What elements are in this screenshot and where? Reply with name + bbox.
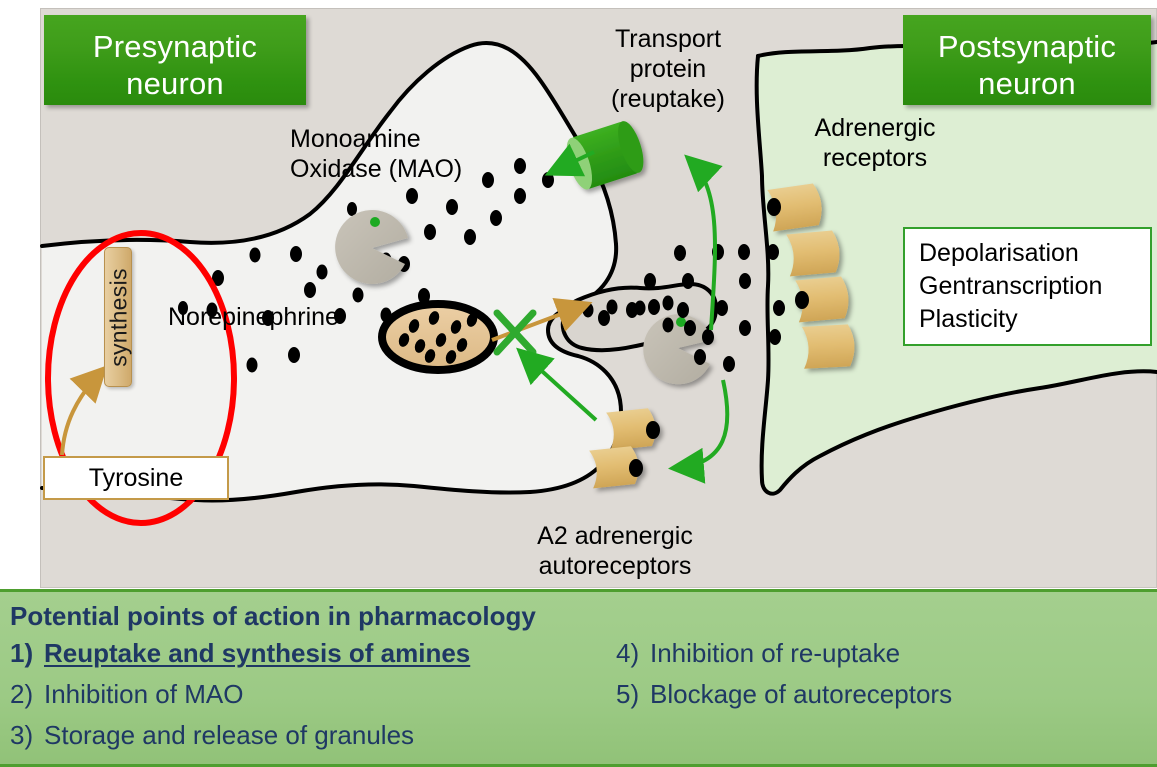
pharmacology-item-3[interactable]: 3)Storage and release of granules [10,715,414,756]
adrenergic-receptor-icon-2 [786,230,841,276]
pharmacology-item-4[interactable]: 4)Inhibition of re-uptake [616,633,900,674]
a2-autoreceptor-icon-2 [589,446,643,489]
pharmacology-item-5-number: 5) [616,674,650,715]
a2-autoreceptor-pointer-arrow [676,380,727,468]
pharmacology-item-3-number: 3) [10,715,44,756]
pharmacology-item-1-number: 1) [10,633,44,674]
adrenergic-receptor-icon-4 [802,324,856,369]
label-adrenergic-receptors: Adrenergic receptors [790,113,960,173]
pharmacology-item-1[interactable]: 1)Reuptake and synthesis of amines [10,633,470,674]
label-norepinephrine: Norepinephrine [168,302,388,332]
adrenergic-receptor-icon-3 [795,276,850,322]
pharmacology-item-5-text: Blockage of autoreceptors [650,679,952,709]
pharmacology-item-4-number: 4) [616,633,650,674]
pharmacology-item-4-text: Inhibition of re-uptake [650,638,900,668]
label-monoamine-oxidase: Monoamine Oxidase (MAO) [290,124,520,184]
adrenergic-receptor-icon-1 [767,183,824,232]
label-a2-adrenergic-autoreceptors: A2 adrenergic autoreceptors [500,521,730,581]
effect-depolarisation: Depolarisation [919,237,1150,270]
pharmacology-panel-title: Potential points of action in pharmacolo… [10,599,1157,633]
tyrosine-callout: Tyrosine [43,456,229,500]
pharmacology-item-2-text: Inhibition of MAO [44,679,243,709]
pharmacology-row-3: 3)Storage and release of granules [10,715,1157,756]
effect-gentranscription: Gentranscription [919,270,1150,303]
a2-autoreceptor-icon-1 [606,408,660,451]
slide-root: Presynaptic neuron Postsynaptic neuron M… [0,0,1157,767]
label-transport-protein: Transport protein (reuptake) [578,24,758,114]
presynaptic-neuron-title: Presynaptic neuron [44,15,306,105]
pharmacology-item-5[interactable]: 5)Blockage of autoreceptors [616,674,952,715]
pharmacology-row-1: 1)Reuptake and synthesis of amines 4)Inh… [10,633,1157,674]
synthesis-pill-label: synthesis [106,248,133,388]
postsynaptic-effects-box: Depolarisation Gentranscription Plastici… [903,227,1152,346]
postsynaptic-neuron-title: Postsynaptic neuron [903,15,1151,105]
pharmacology-item-1-text: Reuptake and synthesis of amines [44,638,470,668]
granule-vesicle-icon [382,304,494,370]
effect-plasticity: Plasticity [919,303,1150,336]
mao-enzyme-pacman-cleft-icon [643,314,712,384]
pharmacology-item-2-number: 2) [10,674,44,715]
pharmacology-item-2[interactable]: 2)Inhibition of MAO [10,674,243,715]
pharmacology-panel: Potential points of action in pharmacolo… [0,589,1157,767]
pharmacology-item-3-text: Storage and release of granules [44,720,414,750]
synthesis-pill: synthesis [104,247,132,387]
pharmacology-row-2: 2)Inhibition of MAO 5)Blockage of autore… [10,674,1157,715]
